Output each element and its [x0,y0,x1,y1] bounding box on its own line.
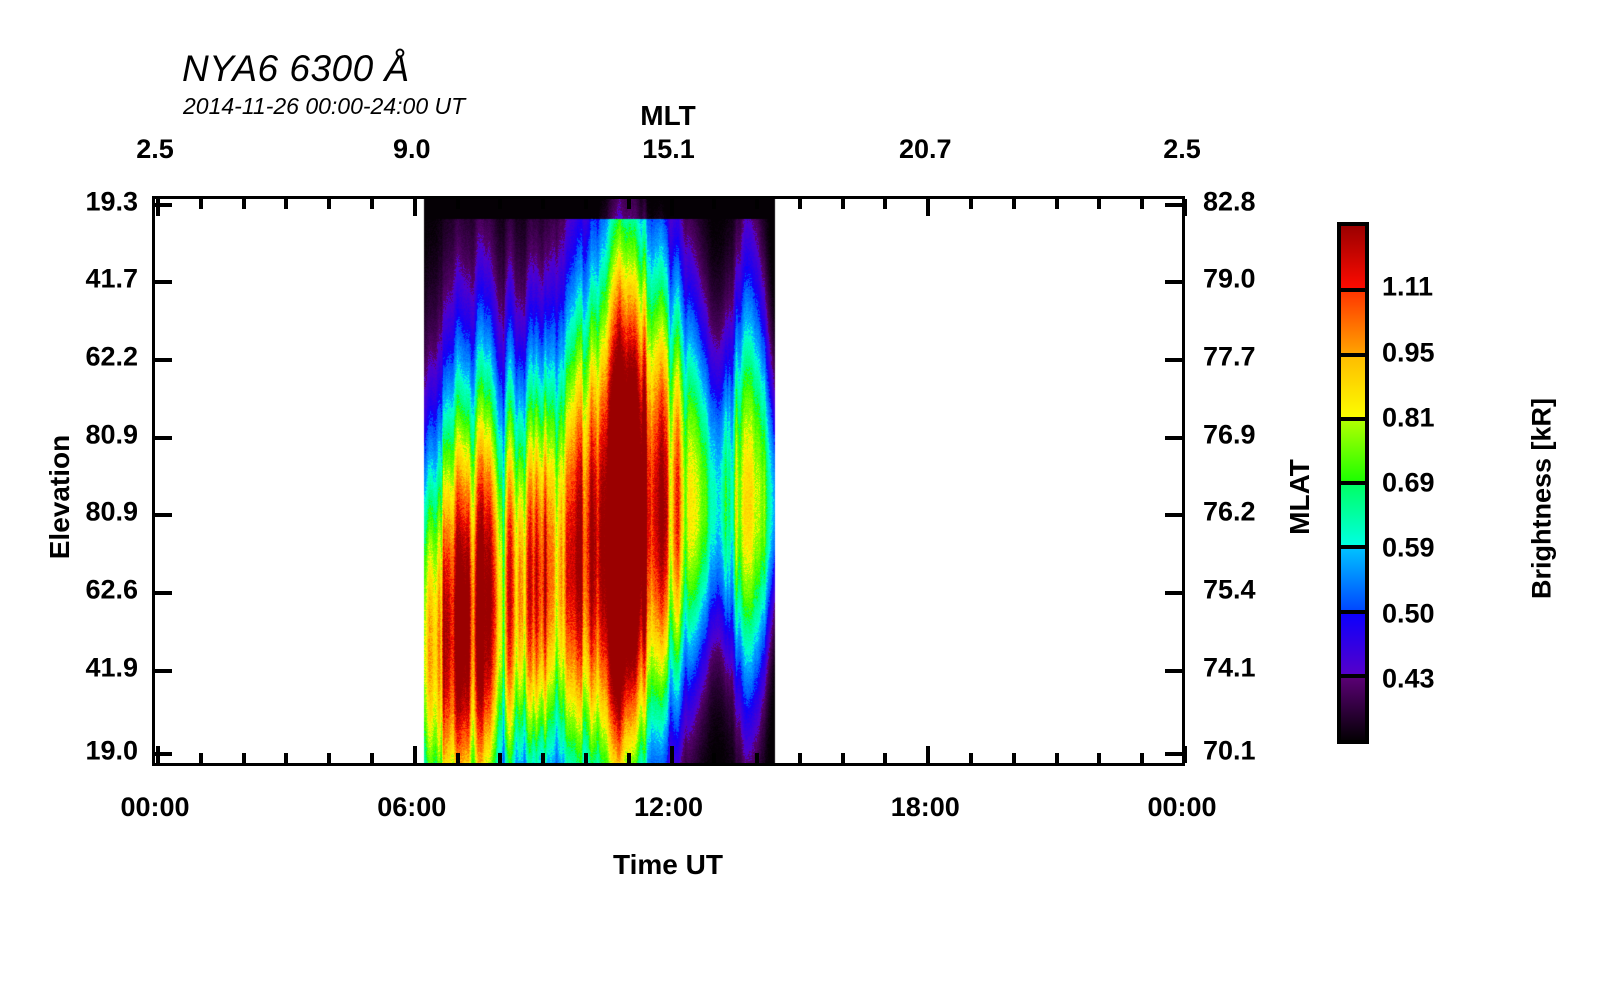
colorbar-tick-label: 0.81 [1382,402,1435,433]
tick-bottom-minor [841,753,845,763]
tick-right-major [1165,591,1182,595]
tick-top-major [1183,199,1187,216]
elev-tick-labels-item: 19.0 [85,735,138,766]
tick-left-major [155,358,172,362]
mlat-tick-labels-item: 74.1 [1203,652,1256,683]
tick-right-major [1165,358,1182,362]
tick-bottom-minor [755,753,759,763]
tick-top-minor [883,199,887,209]
tick-bottom-minor [627,753,631,763]
tick-top-minor [1097,199,1101,209]
mlt-tick-labels-item: 15.1 [642,134,695,165]
mlt-tick-labels-item: 20.7 [899,134,952,165]
tick-top-minor [627,199,631,209]
tick-bottom-minor [1097,753,1101,763]
colorbar-segment [1341,290,1365,354]
mlat-tick-labels-item: 76.9 [1203,419,1256,450]
mlat-tick-labels-item: 79.0 [1203,264,1256,295]
colorbar-divider [1341,288,1365,292]
tick-bottom-minor [1012,753,1016,763]
tick-bottom-minor [370,753,374,763]
tick-top-major [413,199,417,216]
tick-bottom-minor [199,753,203,763]
mlat-tick-labels-item: 75.4 [1203,574,1256,605]
ut-tick-labels-item: 00:00 [1147,792,1216,823]
tick-top-minor [370,199,374,209]
elev-tick-labels-item: 80.9 [85,419,138,450]
colorbar-tick-label: 0.59 [1382,533,1435,564]
tick-bottom-minor [498,753,502,763]
colorbar-segment [1341,419,1365,483]
tick-right-major [1165,436,1182,440]
mlt-axis-title: MLT [640,100,695,132]
colorbar-tick-label: 0.50 [1382,598,1435,629]
tick-top-minor [841,199,845,209]
plot-title: NYA6 6300 Å [182,48,410,90]
colorbar-divider [1341,674,1365,678]
colorbar-segment [1341,676,1365,740]
colorbar-segment [1341,547,1365,611]
tick-top-minor [584,199,588,209]
elev-tick-labels-item: 41.9 [85,652,138,683]
tick-top-major [670,199,674,216]
tick-top-minor [541,199,545,209]
ut-tick-labels-item: 12:00 [634,792,703,823]
tick-top-minor [755,199,759,209]
colorbar-divider [1341,417,1365,421]
tick-bottom-minor [327,753,331,763]
tick-left-major [155,203,172,207]
colorbar-segment [1341,355,1365,419]
elev-tick-labels-item: 80.9 [85,497,138,528]
colorbar-title: Brightness [kR] [1527,349,1558,649]
tick-left-major [155,280,172,284]
time-axis-title: Time UT [613,849,723,881]
colorbar [1337,222,1369,744]
tick-bottom-major [1183,746,1187,763]
colorbar-tick-label: 0.43 [1382,663,1435,694]
elev-tick-labels-item: 62.2 [85,341,138,372]
tick-top-minor [1012,199,1016,209]
tick-left-major [155,752,172,756]
colorbar-segment [1341,226,1365,290]
tick-left-major [155,436,172,440]
mlt-tick-labels-item: 9.0 [393,134,431,165]
ut-tick-labels-item: 18:00 [891,792,960,823]
tick-bottom-major [670,746,674,763]
colorbar-tick-label: 1.11 [1382,272,1433,303]
tick-left-major [155,513,172,517]
elev-tick-labels-item: 41.7 [85,264,138,295]
tick-bottom-minor [798,753,802,763]
plot-subtitle: 2014-11-26 00:00-24:00 UT [183,93,465,120]
colorbar-segment [1341,483,1365,547]
colorbar-tick-label: 0.95 [1382,337,1435,368]
mlat-tick-labels-item: 77.7 [1203,341,1256,372]
tick-top-minor [969,199,973,209]
tick-top-minor [456,199,460,209]
mlat-tick-labels-item: 76.2 [1203,497,1256,528]
colorbar-tick-label: 0.69 [1382,468,1435,499]
keogram-image [155,199,1182,763]
tick-top-minor [498,199,502,209]
tick-top-minor [712,199,716,209]
tick-bottom-major [413,746,417,763]
keogram-plot-inner [155,199,1182,763]
keogram-plot-area [152,196,1185,766]
tick-bottom-minor [883,753,887,763]
tick-left-major [155,669,172,673]
colorbar-divider [1341,610,1365,614]
tick-bottom-major [926,746,930,763]
tick-bottom-minor [541,753,545,763]
colorbar-divider [1341,545,1365,549]
tick-bottom-minor [1140,753,1144,763]
tick-right-major [1165,752,1182,756]
tick-top-minor [1140,199,1144,209]
elevation-axis-title: Elevation [44,377,76,617]
mlat-tick-labels-item: 70.1 [1203,735,1256,766]
tick-right-major [1165,513,1182,517]
tick-bottom-minor [712,753,716,763]
ut-tick-labels-item: 06:00 [377,792,446,823]
tick-bottom-minor [456,753,460,763]
tick-left-major [155,591,172,595]
elev-tick-labels-item: 19.3 [85,186,138,217]
tick-bottom-minor [1055,753,1059,763]
tick-bottom-minor [584,753,588,763]
tick-top-major [156,199,160,216]
tick-top-minor [199,199,203,209]
tick-bottom-minor [284,753,288,763]
mlat-tick-labels-item: 82.8 [1203,186,1256,217]
mlat-axis-title: MLAT [1284,377,1316,617]
colorbar-segment [1341,612,1365,676]
tick-bottom-minor [242,753,246,763]
tick-top-major [926,199,930,216]
tick-top-minor [327,199,331,209]
colorbar-divider [1341,481,1365,485]
tick-top-minor [1055,199,1059,209]
colorbar-divider [1341,353,1365,357]
tick-right-major [1165,669,1182,673]
tick-right-major [1165,280,1182,284]
mlt-tick-labels-item: 2.5 [136,134,174,165]
mlt-tick-labels-item: 2.5 [1163,134,1201,165]
tick-right-major [1165,203,1182,207]
elev-tick-labels-item: 62.6 [85,574,138,605]
tick-top-minor [242,199,246,209]
ut-tick-labels-item: 00:00 [120,792,189,823]
tick-bottom-minor [969,753,973,763]
tick-top-minor [798,199,802,209]
tick-top-minor [284,199,288,209]
